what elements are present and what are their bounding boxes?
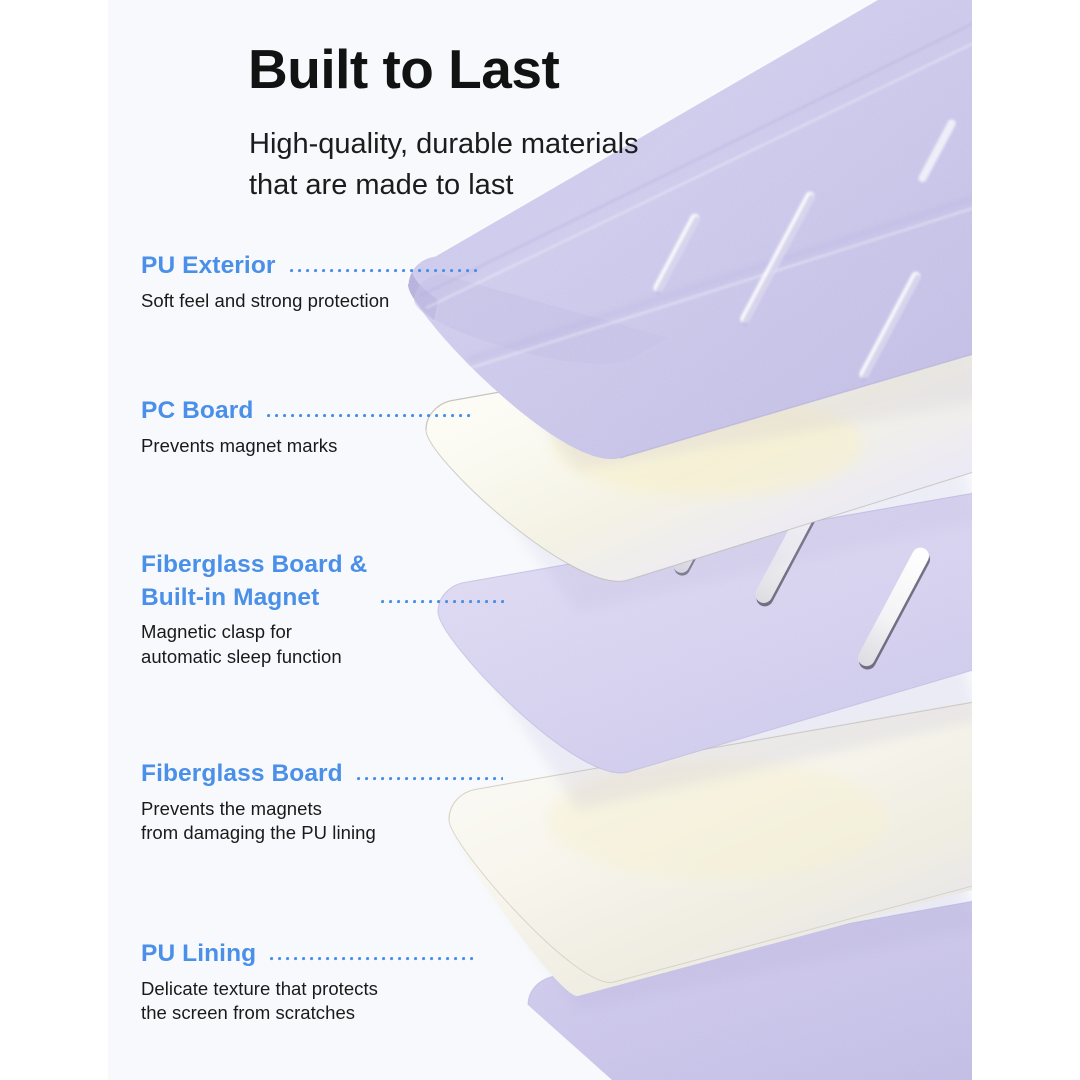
callout-title: PU Exterior bbox=[141, 250, 276, 283]
infographic-page: Built to Last High-quality, durable mate… bbox=[0, 0, 1080, 1080]
callout-fiberglass-board: Fiberglass Board Prevents the magnets fr… bbox=[141, 758, 503, 846]
callout-title-row: PU Lining bbox=[141, 938, 478, 971]
page-subtitle: High-quality, durable materials that are… bbox=[249, 124, 639, 206]
leader-line bbox=[270, 954, 478, 964]
page-title: Built to Last bbox=[248, 40, 559, 98]
callout-fiberglass-board-magnet: Fiberglass Board & Built-in Magnet Magne… bbox=[141, 549, 505, 670]
callout-title: PC Board bbox=[141, 395, 253, 428]
callout-title: Fiberglass Board & Built-in Magnet bbox=[141, 549, 367, 614]
callout-title-row: PU Exterior bbox=[141, 250, 480, 283]
callout-description: Delicate texture that protects the scree… bbox=[141, 977, 478, 1027]
leader-line bbox=[381, 597, 505, 607]
callout-title: Fiberglass Board bbox=[141, 758, 343, 791]
callout-description: Prevents the magnets from damaging the P… bbox=[141, 797, 503, 847]
callout-pc-board: PC Board Prevents magnet marks bbox=[141, 395, 471, 458]
callout-pu-exterior: PU Exterior Soft feel and strong protect… bbox=[141, 250, 480, 313]
callout-description: Prevents magnet marks bbox=[141, 434, 471, 459]
callout-title: PU Lining bbox=[141, 938, 256, 971]
callout-title-row: PC Board bbox=[141, 395, 471, 428]
callout-title-row: Fiberglass Board bbox=[141, 758, 503, 791]
callout-pu-lining: PU Lining Delicate texture that protects… bbox=[141, 938, 478, 1026]
callout-description: Magnetic clasp for automatic sleep funct… bbox=[141, 620, 505, 670]
leader-line bbox=[357, 774, 503, 784]
callout-title-row: Fiberglass Board & Built-in Magnet bbox=[141, 549, 505, 614]
leader-line bbox=[290, 266, 480, 276]
leader-line bbox=[267, 411, 471, 421]
content-canvas: Built to Last High-quality, durable mate… bbox=[108, 0, 972, 1080]
callout-description: Soft feel and strong protection bbox=[141, 289, 480, 314]
